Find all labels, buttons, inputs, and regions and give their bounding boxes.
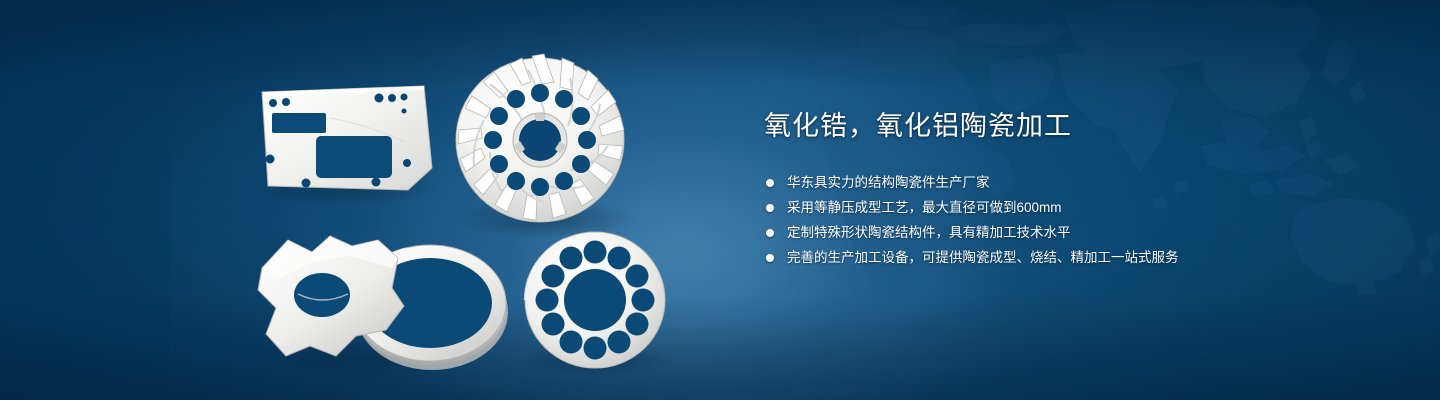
page-title: 氧化锆，氧化铝陶瓷加工 (764, 108, 1384, 144)
product-photo-collage (0, 0, 720, 400)
hero-banner: 氧化锆，氧化铝陶瓷加工 华东具实力的结构陶瓷件生产厂家 采用等静压成型工艺，最大… (0, 0, 1440, 400)
list-item: 定制特殊形状陶瓷结构件，具有精加工技术水平 (766, 220, 1384, 245)
feature-list: 华东具实力的结构陶瓷件生产厂家 采用等静压成型工艺，最大直径可做到600mm 定… (766, 170, 1384, 270)
ceramic-perforated-disc (525, 232, 665, 368)
list-item: 完善的生产加工设备，可提供陶瓷成型、烧结、精加工一站式服务 (766, 245, 1384, 270)
bullet-dot-icon (766, 229, 774, 237)
list-item: 华东具实力的结构陶瓷件生产厂家 (766, 170, 1384, 195)
bullet-dot-icon (766, 254, 774, 262)
list-item-label: 华东具实力的结构陶瓷件生产厂家 (787, 170, 990, 195)
list-item: 采用等静压成型工艺，最大直径可做到600mm (766, 195, 1384, 220)
list-item-label: 完善的生产加工设备，可提供陶瓷成型、烧结、精加工一站式服务 (787, 245, 1179, 270)
bullet-dot-icon (766, 179, 774, 187)
ceramic-machined-plate (262, 86, 432, 190)
list-item-label: 定制特殊形状陶瓷结构件，具有精加工技术水平 (787, 220, 1071, 245)
list-item-label: 采用等静压成型工艺，最大直径可做到600mm (787, 195, 1062, 220)
banner-copy: 氧化锆，氧化铝陶瓷加工 华东具实力的结构陶瓷件生产厂家 采用等静压成型工艺，最大… (764, 108, 1384, 270)
bullet-dot-icon (766, 204, 774, 212)
ceramic-vaned-impeller (456, 54, 624, 222)
